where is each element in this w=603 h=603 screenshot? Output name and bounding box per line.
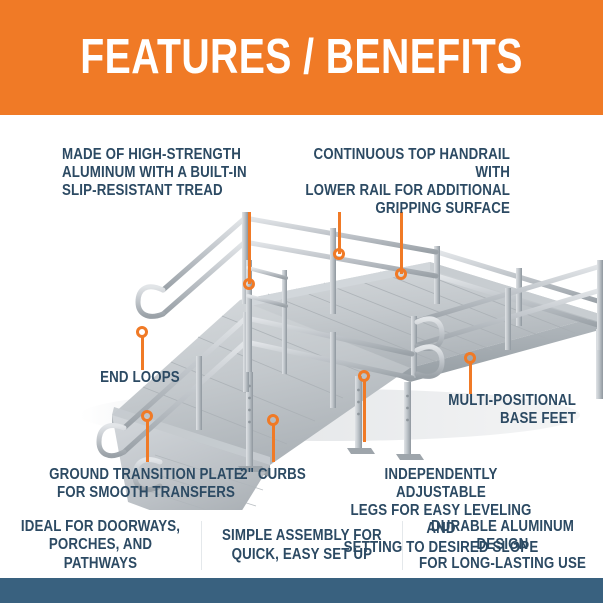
callout-ground-transition-plate: GROUND TRANSITION PLATE FOR SMOOTH TRANS… bbox=[34, 466, 258, 502]
page-title: FEATURES / BENEFITS bbox=[80, 33, 522, 82]
leader-line-two-inch-curbs bbox=[272, 424, 275, 462]
footer-item-label: DURABLE ALUMINUM DESIGN FOR LONG-LASTING… bbox=[416, 518, 589, 572]
ring-marker-high-strength-aluminum bbox=[243, 278, 255, 290]
leader-line-multi-positional-base-feet bbox=[469, 362, 472, 394]
ring-marker-independently-adjustable-legs bbox=[358, 370, 370, 382]
footer-item-simple-assembly: SIMPLE ASSEMBLY FOR QUICK, EASY SET UP bbox=[201, 513, 402, 578]
leader-line-end-loops bbox=[141, 336, 144, 370]
callout-high-strength-aluminum: MADE OF HIGH-STRENGTH ALUMINUM WITH A BU… bbox=[62, 146, 260, 200]
callout-end-loops: END LOOPS bbox=[88, 369, 191, 387]
bottom-accent-bar bbox=[0, 578, 603, 603]
leader-line-independently-adjustable-legs bbox=[363, 380, 366, 442]
ring-marker-multi-positional-base-feet bbox=[464, 352, 476, 364]
ring-marker-ground-transition-plate bbox=[141, 410, 153, 422]
ring-marker-lower-rail bbox=[395, 268, 407, 280]
callout-two-inch-curbs: 2" CURBS bbox=[238, 466, 309, 484]
leader-line-lower-rail bbox=[400, 212, 403, 274]
callout-continuous-top-handrail: CONTINUOUS TOP HANDRAIL WITH LOWER RAIL … bbox=[305, 146, 510, 219]
footer-item-doorways-porches-pathways: IDEAL FOR DOORWAYS, PORCHES, AND PATHWAY… bbox=[0, 513, 201, 578]
infographic-poster: FEATURES / BENEFITS bbox=[0, 0, 603, 603]
footer-item-durable-aluminum: DURABLE ALUMINUM DESIGN FOR LONG-LASTING… bbox=[402, 513, 603, 578]
leader-line-high-strength-aluminum bbox=[248, 212, 251, 284]
ring-marker-continuous-top-handrail bbox=[333, 248, 345, 260]
ring-marker-end-loops bbox=[136, 326, 148, 338]
footer-item-label: SIMPLE ASSEMBLY FOR QUICK, EASY SET UP bbox=[222, 527, 382, 563]
footer-benefits-row: IDEAL FOR DOORWAYS, PORCHES, AND PATHWAY… bbox=[0, 513, 603, 578]
header-banner: FEATURES / BENEFITS bbox=[0, 0, 603, 115]
ring-marker-two-inch-curbs bbox=[267, 414, 279, 426]
leader-line-ground-transition-plate bbox=[146, 420, 149, 462]
callout-multi-positional-base-feet: MULTI-POSITIONAL BASE FEET bbox=[428, 392, 576, 428]
footer-item-label: IDEAL FOR DOORWAYS, PORCHES, AND PATHWAY… bbox=[14, 518, 187, 572]
